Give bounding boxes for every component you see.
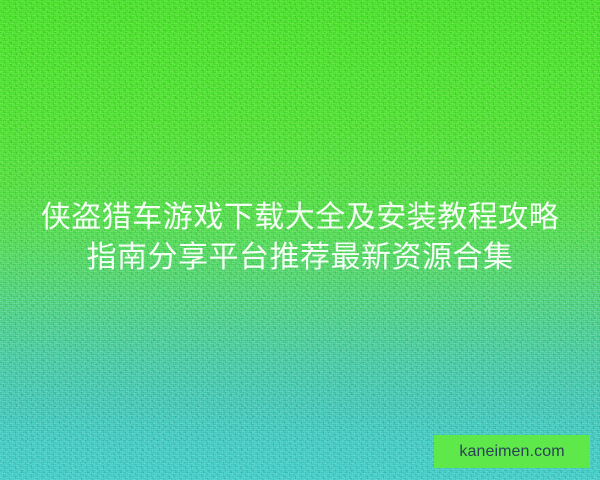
banner-image: 侠盗猎车游戏下载大全及安装教程攻略指南分享平台推荐最新资源合集 kaneimen…: [0, 0, 600, 480]
watermark-badge: kaneimen.com: [434, 435, 590, 468]
watermark-label: kaneimen.com: [459, 444, 564, 460]
banner-title-container: 侠盗猎车游戏下载大全及安装教程攻略指南分享平台推荐最新资源合集: [0, 198, 600, 278]
banner-title: 侠盗猎车游戏下载大全及安装教程攻略指南分享平台推荐最新资源合集: [30, 198, 570, 278]
